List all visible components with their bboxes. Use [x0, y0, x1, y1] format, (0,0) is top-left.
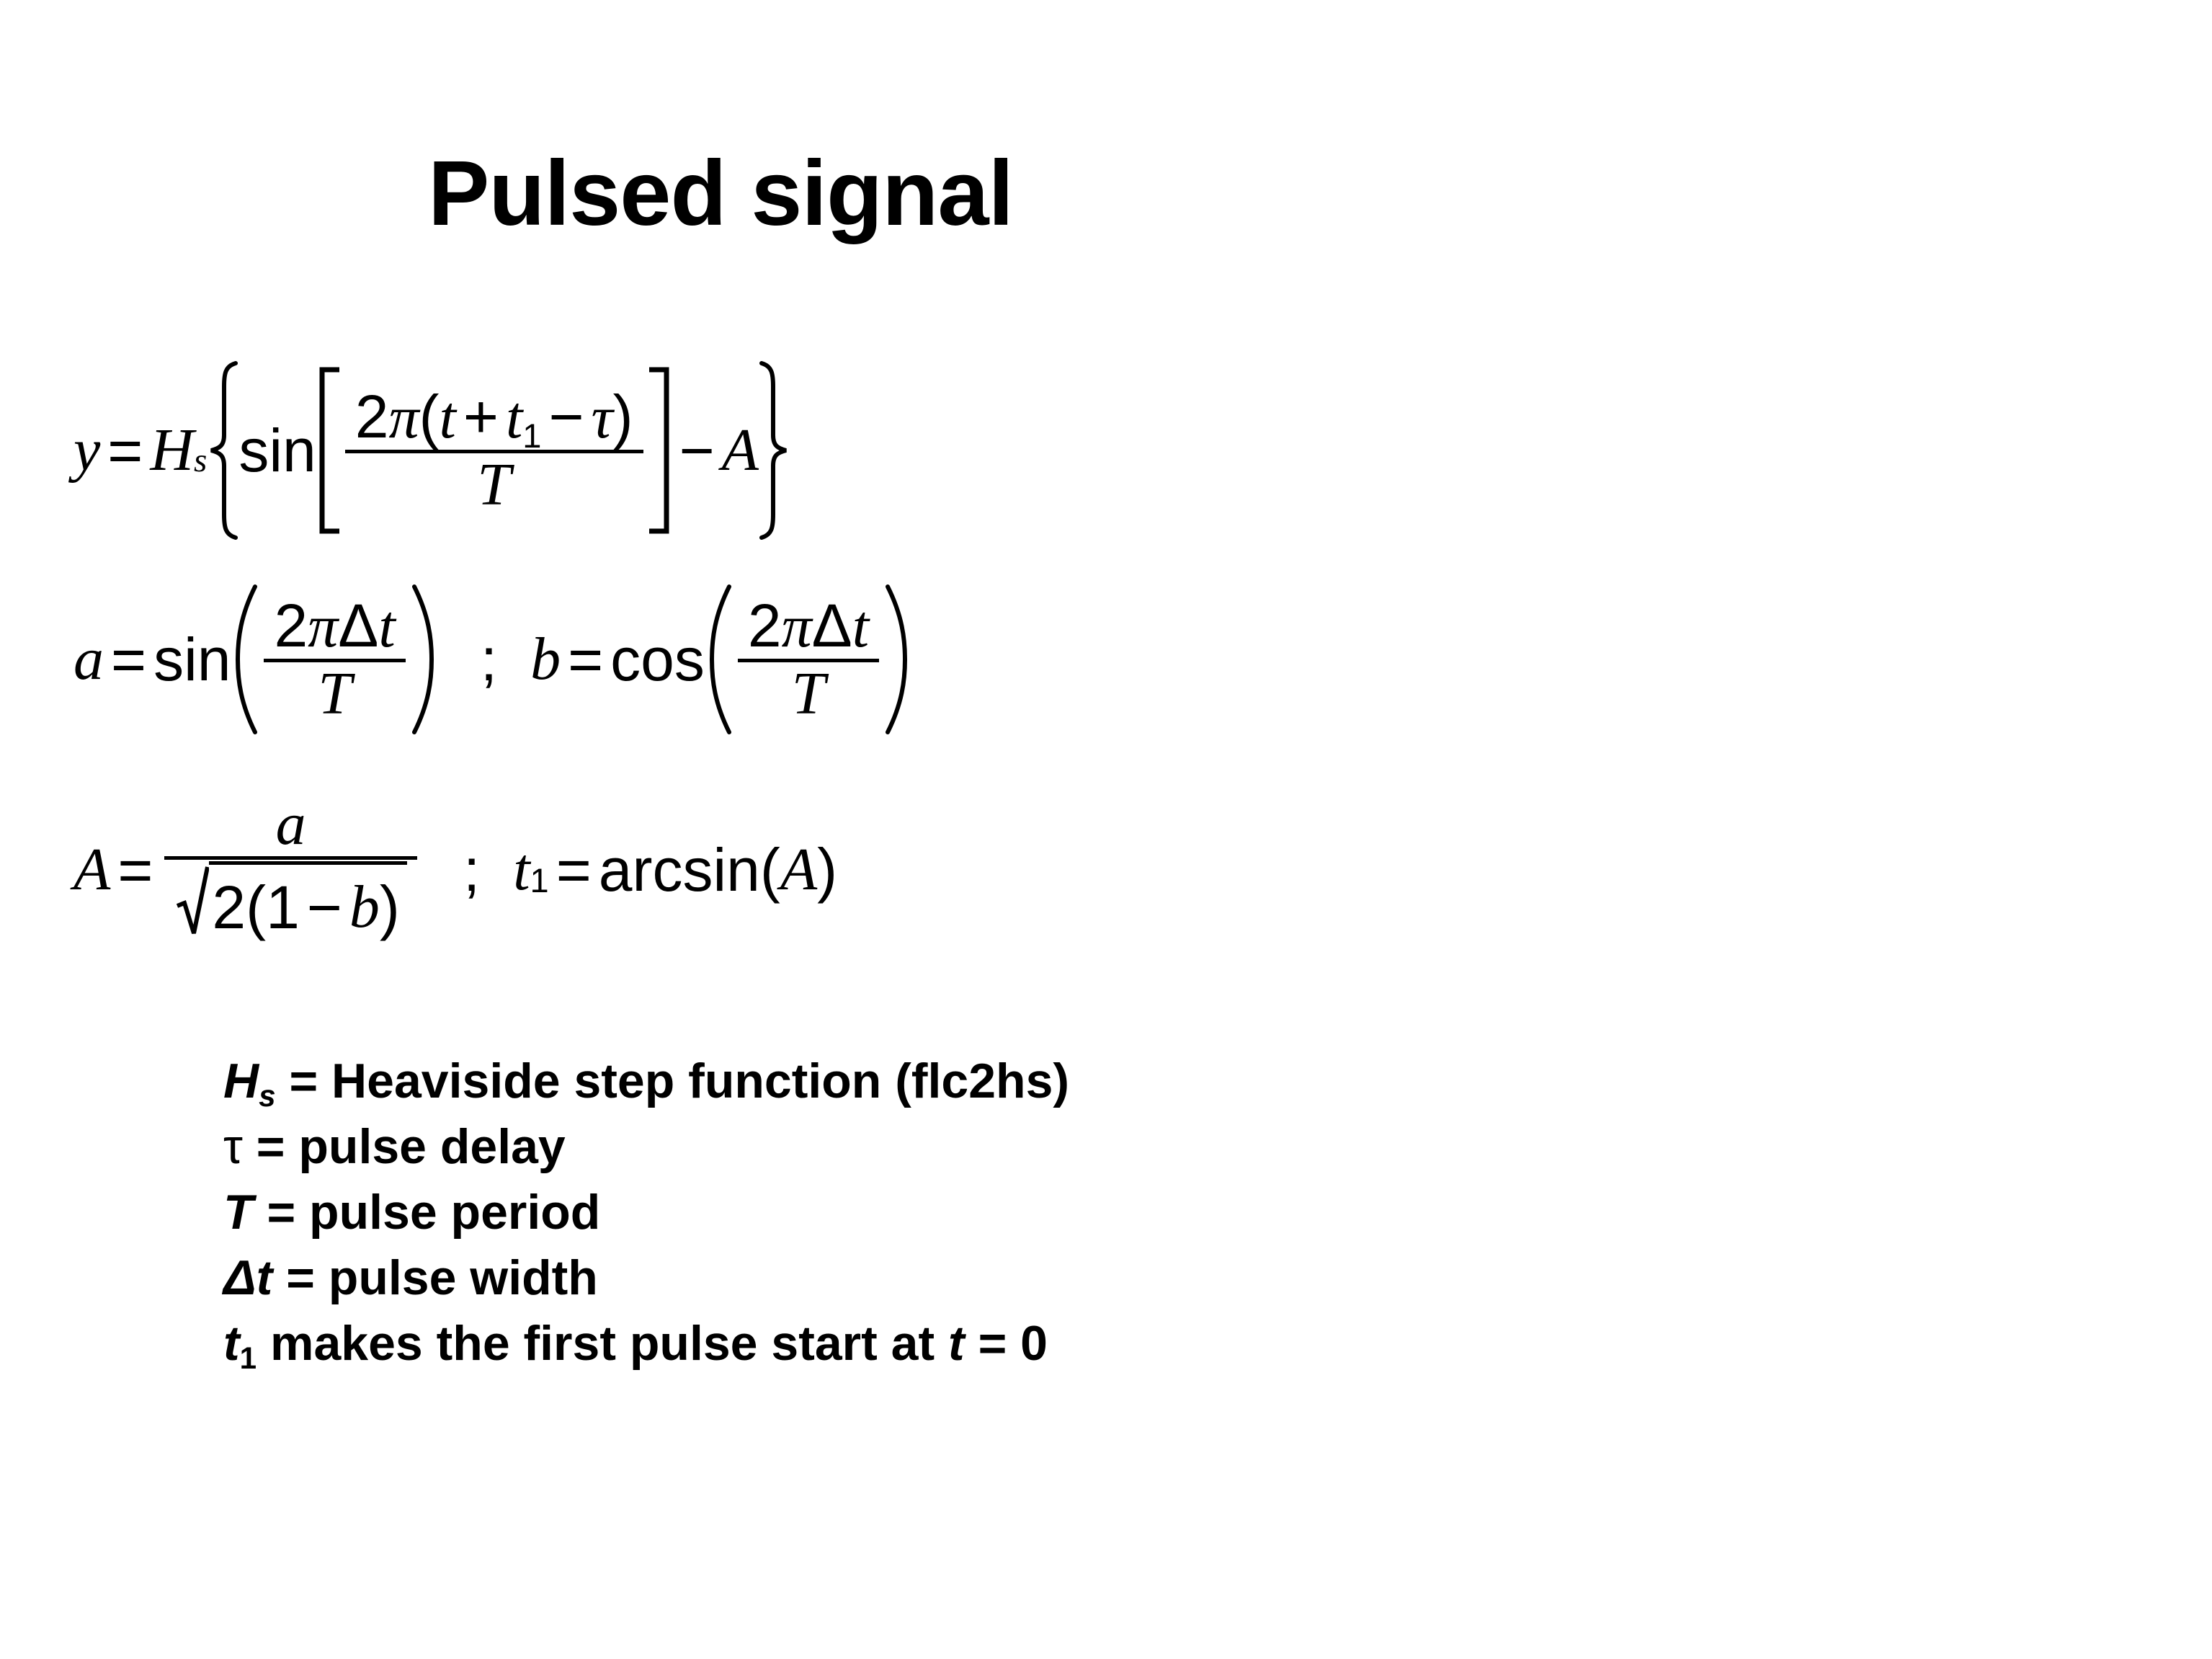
eq3-open-paren: ( [760, 840, 780, 900]
square-root: 2(1−b) [176, 861, 406, 946]
right-square-bracket [648, 367, 672, 534]
numerator-delta: Δ [812, 592, 852, 659]
eq3-fraction: a 2(1−b) [164, 793, 416, 947]
radicand-two: 2 [212, 877, 246, 938]
eq3-lhs-A: A [73, 840, 110, 900]
legend-block: Hs = Heaviside step function (flc2hs) τ … [223, 1049, 1069, 1376]
eq3-denominator: 2(1−b) [164, 860, 416, 947]
legend-line-T: T = pulse period [223, 1180, 1069, 1245]
numerator-pi: π [308, 593, 338, 660]
eq2-numerator-right: 2πΔt [738, 594, 879, 659]
eq1-lhs: y [73, 420, 100, 481]
eq1-h-subscript: s [194, 444, 207, 478]
equation-2: a = sin 2πΔt T ; b = cos 2πΔt [73, 584, 912, 735]
eq2-cos: cos [610, 629, 705, 690]
numerator-two: 2 [748, 592, 782, 659]
numerator-minus: − [541, 383, 591, 450]
numerator-two: 2 [355, 383, 389, 450]
eq2-fraction-right: 2πΔt T [738, 594, 879, 726]
eq1-denominator: T [467, 453, 521, 517]
numerator-t: t [852, 593, 869, 660]
legend-symbol-H: H [223, 1054, 259, 1108]
numerator-delta: Δ [338, 592, 378, 659]
legend-symbol-delta-t: Δt [223, 1250, 272, 1305]
eq2-numerator-left: 2πΔt [264, 594, 405, 659]
legend-line-t1: t1 makes the first pulse start at t = 0 [223, 1311, 1069, 1376]
radicand-one: 1 [266, 877, 300, 938]
radicand-open-paren: ( [246, 877, 266, 938]
eq1-fraction: 2π(t+t1−τ) T [345, 385, 643, 517]
eq1-equals: = [100, 420, 150, 481]
eq1-minus: − [672, 420, 722, 481]
eq2-denominator-left: T [308, 662, 362, 726]
numerator-plus: + [456, 383, 506, 450]
numerator-pi: π [782, 593, 812, 660]
radicand-close-paren: ) [380, 877, 400, 938]
eq3-equals-right: = [549, 840, 599, 900]
legend-trailing-symbol-t: t [948, 1316, 965, 1371]
right-paren-large-b [883, 584, 912, 735]
numerator-tau: τ [592, 384, 613, 451]
legend-line-tau: τ = pulse delay [223, 1114, 1069, 1180]
legend-symbol-T: T [223, 1185, 254, 1240]
eq3-numerator: a [266, 793, 316, 856]
eq3-arcsin: arcsin [599, 840, 760, 900]
right-paren-large-a [410, 584, 439, 735]
numerator-t1-subscript: 1 [522, 417, 541, 455]
legend-text-tau: = pulse delay [243, 1119, 566, 1174]
numerator-t: t [378, 593, 395, 660]
numerator-close-paren: ) [613, 383, 633, 450]
eq2-denominator-right: T [782, 662, 836, 726]
numerator-pi: π [388, 384, 419, 451]
eq2-separator: ; [439, 629, 530, 690]
radicand: 2(1−b) [209, 861, 406, 946]
legend-text-T: = pulse period [254, 1185, 601, 1240]
eq1-h-symbol: H [150, 420, 194, 481]
right-curly-brace [759, 360, 790, 541]
eq1-numerator: 2π(t+t1−τ) [345, 385, 643, 450]
eq3-t1-subscript: 1 [530, 863, 549, 897]
radicand-minus: − [300, 877, 349, 938]
legend-symbol-tau: τ [223, 1119, 243, 1174]
radicand-b: b [349, 877, 380, 938]
equation-3: A = a 2(1−b) ; t1 = arcsin(A) [73, 793, 837, 947]
legend-subscript-s: s [259, 1079, 275, 1113]
left-paren-large-a [231, 584, 259, 735]
slide-canvas: Pulsed signal y = Hs sin 2π(t+t1−τ) T [0, 0, 2212, 1659]
eq3-arg-A: A [780, 840, 817, 900]
legend-subscript-1: 1 [240, 1341, 257, 1375]
eq1-sin: sin [238, 420, 316, 481]
radical-sign-icon [176, 861, 209, 946]
legend-text-hs: = Heaviside step function (flc2hs) [276, 1054, 1069, 1108]
eq1-amplitude: A [722, 420, 759, 481]
eq3-equals-left: = [110, 840, 160, 900]
legend-line-hs: Hs = Heaviside step function (flc2hs) [223, 1049, 1069, 1114]
legend-text-deltat: = pulse width [272, 1250, 598, 1305]
legend-line-deltat: Δt = pulse width [223, 1245, 1069, 1311]
left-paren-large-b [705, 584, 733, 735]
eq2-equals-left: = [104, 629, 153, 690]
legend-trailing-text: = 0 [965, 1316, 1048, 1371]
numerator-t: t [440, 384, 456, 451]
left-curly-brace [207, 360, 238, 541]
legend-symbol-t: t [223, 1316, 240, 1371]
eq3-close-paren: ) [817, 840, 837, 900]
eq3-separator: ; [422, 840, 513, 900]
numerator-two: 2 [274, 592, 308, 659]
eq2-sin: sin [153, 629, 231, 690]
legend-text-t1: makes the first pulse start at [257, 1316, 948, 1371]
eq2-lhs-a: a [73, 629, 104, 690]
eq2-equals-right: = [561, 629, 610, 690]
numerator-t1: t [506, 384, 522, 451]
eq3-t1-symbol: t [513, 840, 530, 900]
eq2-fraction-left: 2πΔt T [264, 594, 405, 726]
equation-1: y = Hs sin 2π(t+t1−τ) T − [73, 360, 790, 541]
page-title: Pulsed signal [0, 148, 1441, 240]
numerator-open-paren: ( [419, 383, 440, 450]
eq2-lhs-b: b [530, 629, 561, 690]
left-square-bracket [316, 367, 341, 534]
